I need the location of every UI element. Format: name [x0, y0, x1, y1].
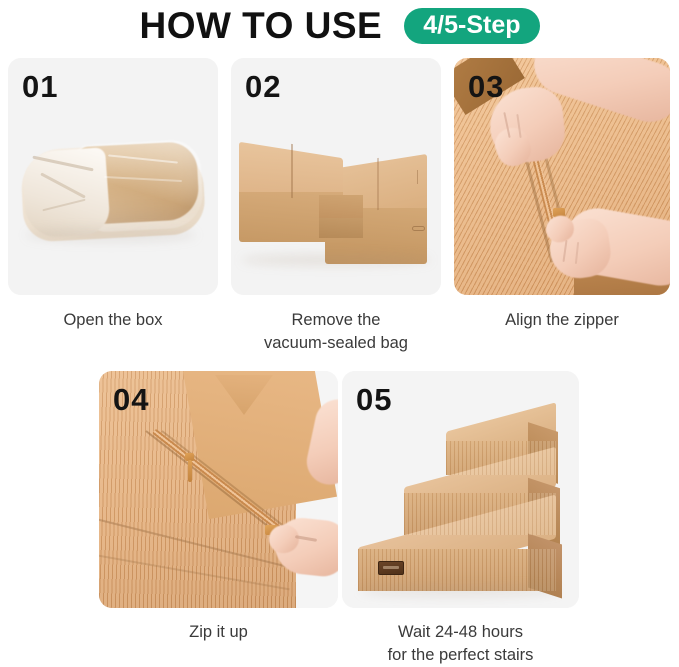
- step-caption-02: Remove the vacuum-sealed bag: [231, 309, 441, 355]
- step-caption-01: Open the box: [8, 309, 218, 332]
- caption-line: Remove the: [231, 309, 441, 332]
- caption-line: Align the zipper: [454, 309, 670, 332]
- step-number-04: 04: [113, 382, 149, 418]
- step-card-05: 05: [342, 371, 579, 608]
- how-to-use-infographic: HOW TO USE 4/5-Step 01 Open the box: [0, 0, 679, 667]
- step-caption-03: Align the zipper: [454, 309, 670, 332]
- caption-line: Zip it up: [99, 621, 338, 644]
- step-number-05: 05: [356, 382, 392, 418]
- page-title: HOW TO USE: [139, 6, 382, 46]
- step-card-01: 01: [8, 58, 218, 295]
- caption-line: vacuum-sealed bag: [231, 332, 441, 355]
- step-count-badge: 4/5-Step: [404, 8, 539, 44]
- step-number-01: 01: [22, 69, 58, 105]
- step-card-02: 02: [231, 58, 441, 295]
- step-caption-05: Wait 24-48 hours for the perfect stairs: [342, 621, 579, 667]
- step-number-03: 03: [468, 69, 504, 105]
- step-card-04: 04: [99, 371, 338, 608]
- caption-line: for the perfect stairs: [342, 644, 579, 667]
- caption-line: Open the box: [8, 309, 218, 332]
- step-card-03: 03: [454, 58, 670, 295]
- step-caption-04: Zip it up: [99, 621, 338, 644]
- header: HOW TO USE 4/5-Step: [0, 0, 679, 52]
- caption-line: Wait 24-48 hours: [342, 621, 579, 644]
- step-number-02: 02: [245, 69, 281, 105]
